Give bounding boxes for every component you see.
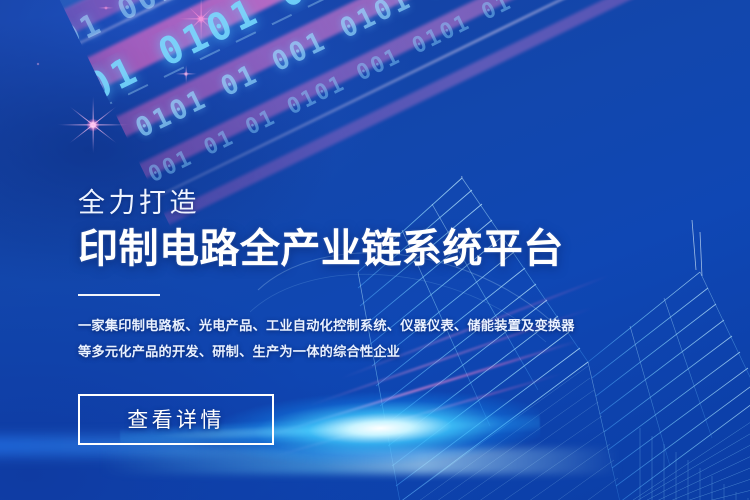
hero-banner: 01 01 001 01 0101 01 001 0101 01 001 01 … bbox=[0, 0, 750, 500]
page-title: 印制电路全产业链系统平台 bbox=[78, 227, 598, 273]
title-divider bbox=[78, 294, 160, 296]
hero-description-line-2: 等多元化产品的开发、研制、生产为一体的综合性企业 bbox=[78, 339, 598, 365]
hero-content: 全力打造 印制电路全产业链系统平台 一家集印制电路板、光电产品、工业自动化控制系… bbox=[78, 188, 598, 445]
hero-description-line-1: 一家集印制电路板、光电产品、工业自动化控制系统、仪器仪表、储能装置及变换器 bbox=[78, 313, 598, 339]
view-details-button[interactable]: 查看详情 bbox=[78, 394, 274, 445]
hero-kicker: 全力打造 bbox=[78, 188, 598, 220]
